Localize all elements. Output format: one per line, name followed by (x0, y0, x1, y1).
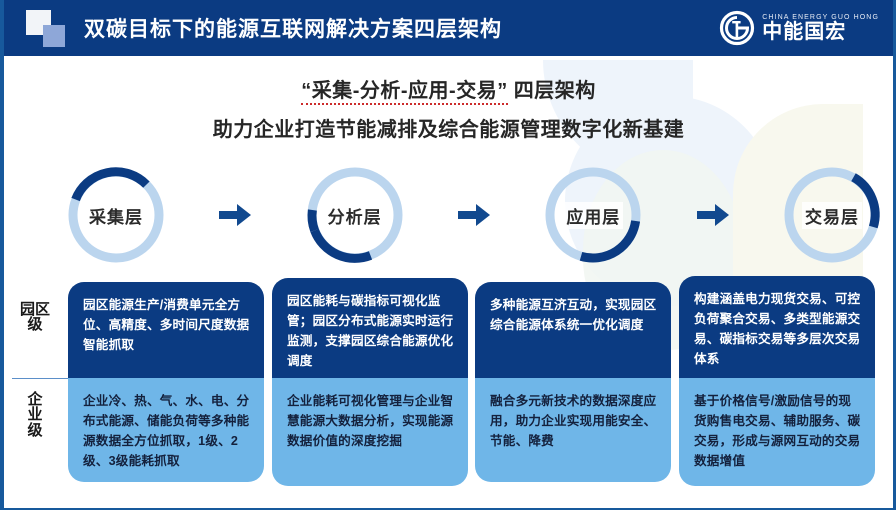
subtitle-line-1-rest: 四层架构 (508, 80, 596, 102)
architecture-column-analysis: 园区能耗与碳指标可视化监管；园区分布式能源实时运行监测，支撑园区综合能源优化调度… (272, 276, 476, 504)
park-level-card[interactable]: 园区能耗与碳指标可视化监管；园区分布式能源实时运行监测，支撑园区综合能源优化调度 (272, 278, 468, 378)
right-arrow-icon (454, 200, 494, 230)
logo-chinese-name: 中能国宏 (762, 22, 879, 42)
right-arrow-icon (215, 200, 255, 230)
subtitle-line-2: 助力企业打造节能减排及综合能源管理数字化新基建 (4, 113, 893, 142)
subtitle-quoted-phrase: “采集-分析-应用-交易” (301, 80, 507, 105)
level-label-enterprise-line1: 企 (4, 392, 66, 407)
flow-step-label: 分析层 (325, 202, 385, 229)
enterprise-level-card[interactable]: 融合多元新技术的数据深度应用，助力企业实现用能安全、节能、降费 (475, 378, 671, 482)
flow-step-analysis[interactable]: 分析层 (303, 163, 407, 267)
flow-step-application[interactable]: 应用层 (541, 163, 645, 267)
park-level-card[interactable]: 园区能源生产/消费单元全方位、高精度、多时间尺度数据智能抓取 (68, 282, 264, 378)
enterprise-level-card[interactable]: 基于价格信号/激励信号的现货购售电交易、辅助服务、碳交易，形成与源网互动的交易数… (679, 378, 875, 486)
architecture-column-trading: 构建涵盖电力现货交易、可控负荷聚合交易、多类型能源交易、碳指标交易等多层次交易体… (679, 276, 883, 504)
flow-diagram: 采集层 分析层 应用层 (64, 160, 884, 270)
level-label-enterprise: 企 业 级 (4, 392, 66, 438)
level-label-park: 园区 级 (4, 302, 66, 333)
two-squares-icon (26, 8, 78, 48)
flow-step-label: 应用层 (563, 202, 623, 229)
company-logo: CHINA ENERGY GUO HONG 中能国宏 (719, 8, 879, 48)
slide-canvas: 双碳目标下的能源互联网解决方案四层架构 CHINA ENERGY GUO HON… (0, 0, 896, 510)
enterprise-level-card[interactable]: 企业冷、热、气、水、电、分布式能源、储能负荷等多种能源数据全方位抓取，1级、2级… (68, 378, 264, 482)
flow-step-label: 采集层 (86, 202, 146, 229)
level-labels: 园区 级 企 业 级 (4, 276, 66, 504)
flow-step-collection[interactable]: 采集层 (64, 163, 168, 267)
level-label-park-line1: 园区 (4, 302, 66, 317)
architecture-column-application: 多种能源互济互动，实现园区综合能源体系统一优化调度 融合多元新技术的数据深度应用… (475, 276, 679, 504)
subtitle-block: “采集-分析-应用-交易” 四层架构 助力企业打造节能减排及综合能源管理数字化新… (4, 74, 893, 142)
enterprise-level-card[interactable]: 企业能耗可视化管理与企业智慧能源大数据分析，实现能源数据价值的深度挖掘 (272, 378, 468, 486)
architecture-column-collection: 园区能源生产/消费单元全方位、高精度、多时间尺度数据智能抓取 企业冷、热、气、水… (68, 276, 272, 504)
subtitle-line-1: “采集-分析-应用-交易” 四层架构 (4, 74, 893, 103)
flow-step-label: 交易层 (802, 202, 862, 229)
architecture-cards: 园区能源生产/消费单元全方位、高精度、多时间尺度数据智能抓取 企业冷、热、气、水… (66, 276, 893, 504)
logo-english-name: CHINA ENERGY GUO HONG (762, 14, 879, 21)
page-title: 双碳目标下的能源互联网解决方案四层架构 (84, 13, 502, 43)
right-arrow-icon (693, 200, 733, 230)
slide-header: 双碳目标下的能源互联网解决方案四层架构 CHINA ENERGY GUO HON… (4, 0, 893, 56)
level-label-enterprise-line3: 级 (4, 423, 66, 438)
guohong-circle-logo-icon (719, 10, 755, 46)
park-level-card[interactable]: 多种能源互济互动，实现园区综合能源体系统一优化调度 (475, 282, 671, 378)
architecture-grid: 园区 级 企 业 级 园区能源生产/消费单元全方位、高精度、多时间尺度数据智能抓… (4, 276, 893, 504)
level-label-enterprise-line2: 业 (4, 407, 66, 422)
level-label-park-line2: 级 (4, 317, 66, 332)
flow-step-trading[interactable]: 交易层 (780, 163, 884, 267)
park-level-card[interactable]: 构建涵盖电力现货交易、可控负荷聚合交易、多类型能源交易、碳指标交易等多层次交易体… (679, 276, 875, 378)
